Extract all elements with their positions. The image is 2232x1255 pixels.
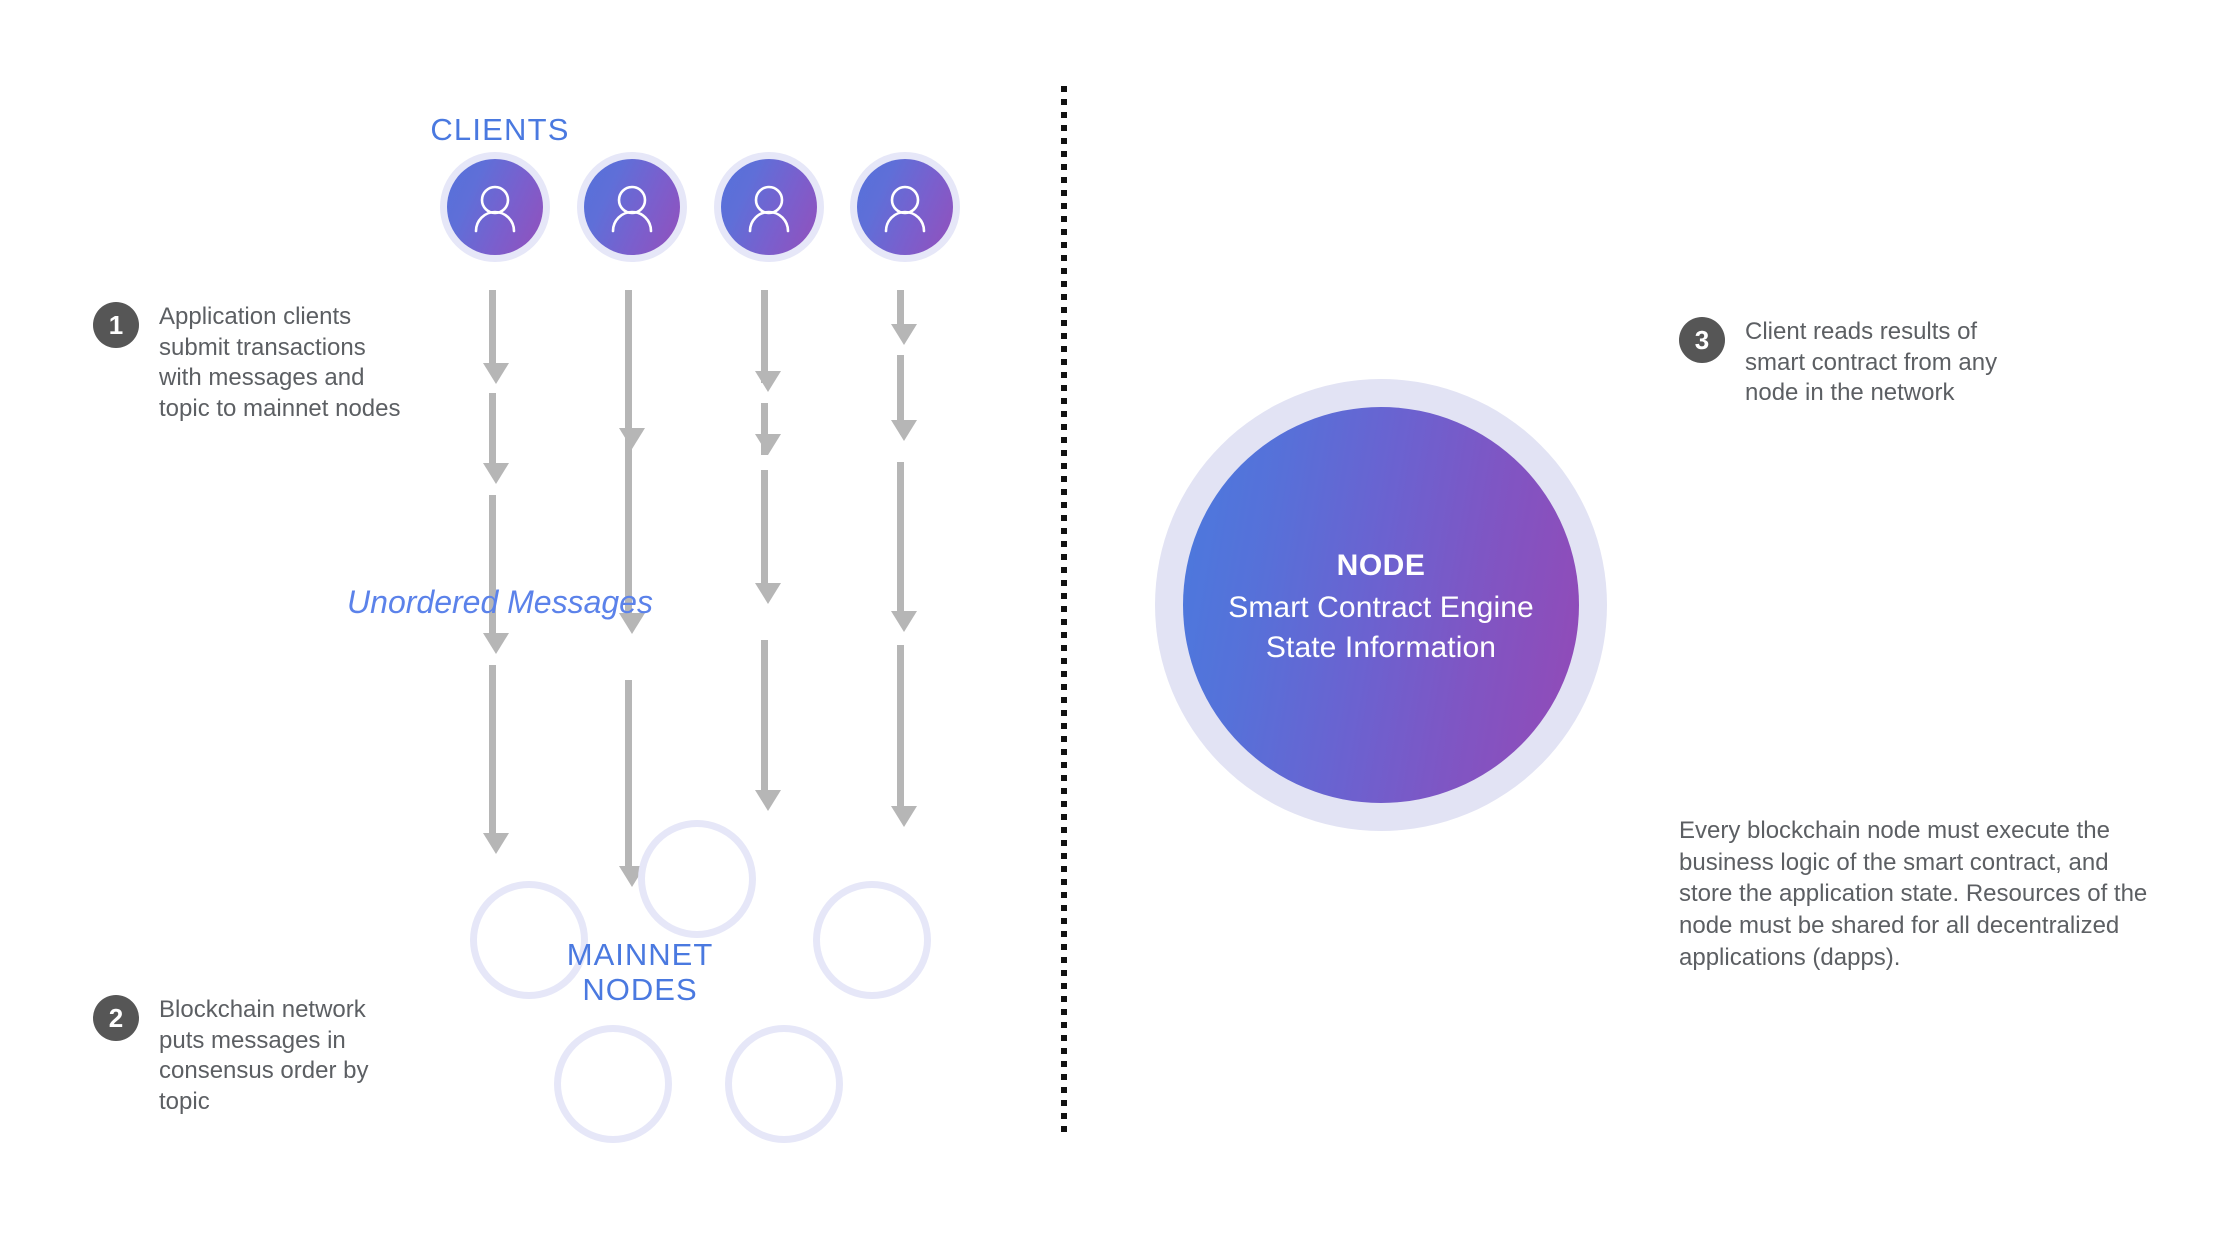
node-circle-line-2: State Information xyxy=(1266,628,1496,668)
mainnet-node-2[interactable] xyxy=(645,827,749,931)
mainnet-node-3[interactable] xyxy=(820,888,924,992)
node-description-paragraph: Every blockchain node must execute the b… xyxy=(1679,815,2149,973)
client-avatar-4[interactable] xyxy=(857,159,953,255)
person-icon xyxy=(467,179,523,235)
node-circle[interactable]: NODE Smart Contract Engine State Informa… xyxy=(1155,379,1607,831)
client-avatar-1[interactable] xyxy=(447,159,543,255)
mainnet-label-line-2: NODES xyxy=(455,973,825,1008)
person-icon xyxy=(604,179,660,235)
step-badge-1: 1 xyxy=(93,302,139,348)
step-text-1: Application clients submit transactions … xyxy=(159,302,403,425)
clients-section-label: CLIENTS xyxy=(0,112,1000,148)
step-callout-1: 1 Application clients submit transaction… xyxy=(93,302,403,425)
mainnet-node-4[interactable] xyxy=(561,1032,665,1136)
hedera-node-icon xyxy=(661,843,733,915)
step-callout-3: 3 Client reads results of smart contract… xyxy=(1679,317,2019,409)
unordered-messages-label: Unordered Messages xyxy=(0,584,1000,621)
hedera-node-icon xyxy=(577,1048,649,1120)
step-badge-3: 3 xyxy=(1679,317,1725,363)
step-text-2: Blockchain network puts messages in cons… xyxy=(159,995,393,1118)
person-icon xyxy=(741,179,797,235)
node-circle-line-1: Smart Contract Engine xyxy=(1228,588,1534,628)
step-callout-2: 2 Blockchain network puts messages in co… xyxy=(93,995,393,1118)
hedera-node-icon xyxy=(836,904,908,976)
mainnet-nodes-label: MAINNET NODES xyxy=(455,938,825,1007)
hedera-node-icon xyxy=(748,1048,820,1120)
client-avatar-3[interactable] xyxy=(721,159,817,255)
person-icon xyxy=(877,179,933,235)
node-circle-body: NODE Smart Contract Engine State Informa… xyxy=(1183,407,1579,803)
vertical-dotted-divider xyxy=(1061,86,1067,1136)
mainnet-label-line-1: MAINNET xyxy=(455,938,825,973)
client-avatar-2[interactable] xyxy=(584,159,680,255)
step-badge-2: 2 xyxy=(93,995,139,1041)
mainnet-node-5[interactable] xyxy=(732,1032,836,1136)
node-circle-title: NODE xyxy=(1337,543,1426,588)
step-text-3: Client reads results of smart contract f… xyxy=(1745,317,2019,409)
diagram-canvas: CLIENTS xyxy=(0,0,2232,1255)
